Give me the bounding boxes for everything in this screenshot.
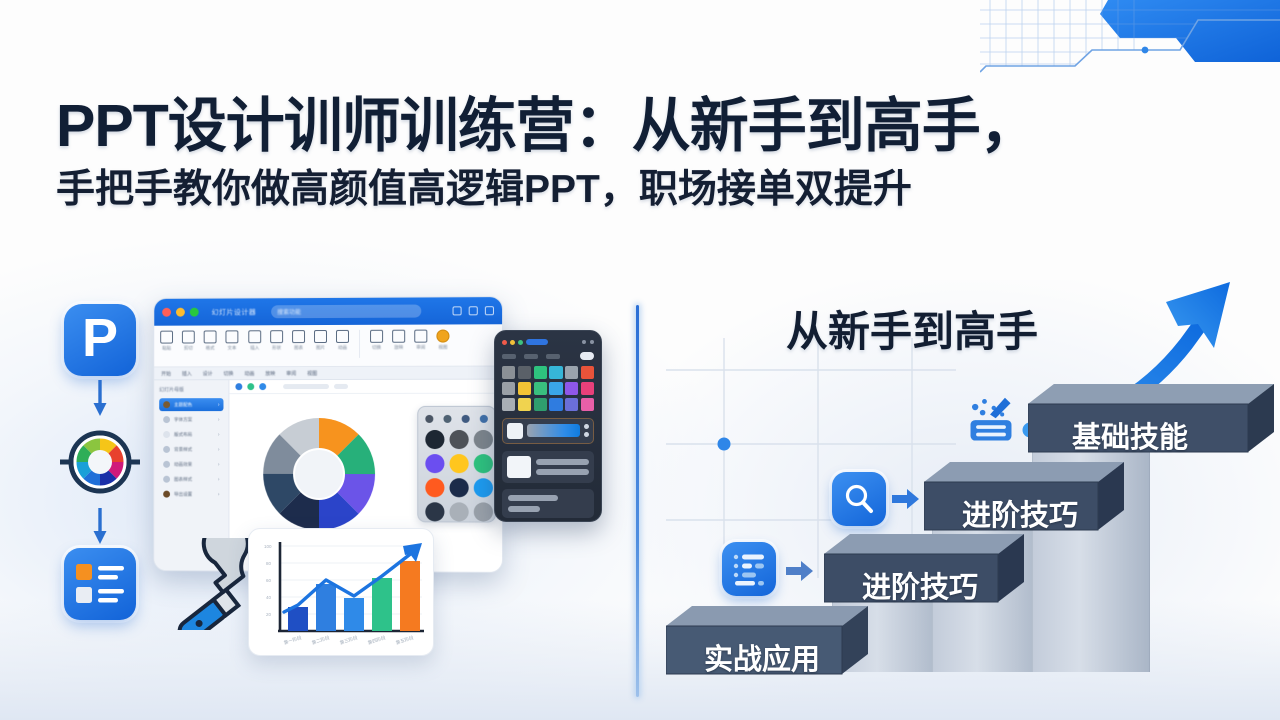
gradient-stop-dot[interactable] xyxy=(584,432,589,437)
preview-line xyxy=(536,459,589,465)
panel-tab[interactable] xyxy=(502,354,516,359)
chevron-right-icon: › xyxy=(218,446,220,452)
bullet-icon xyxy=(163,476,170,483)
chevron-right-icon: › xyxy=(218,432,220,438)
footer-line xyxy=(508,495,558,501)
app-tab-strip: 开始 插入 设计 切换 动画 放映 审阅 视图 xyxy=(154,367,502,381)
window-close-dot[interactable] xyxy=(162,308,171,317)
palette-cell[interactable] xyxy=(565,382,578,395)
page-subtitle: 手把手教你做高颜值高逻辑PPT，职场接单双提升 xyxy=(56,169,1236,212)
ribbon-button[interactable]: 粘贴 xyxy=(160,331,173,352)
arrow-down-icon xyxy=(52,376,148,420)
poster-canvas: PPT设计训师训练营：从新手到高手， 手把手教你做高颜值高逻辑PPT，职场接单双… xyxy=(0,0,1280,720)
shape-icon xyxy=(270,330,283,343)
ribbon-label: 粘贴 xyxy=(160,346,173,352)
palette-cell[interactable] xyxy=(502,398,515,411)
tab-design[interactable]: 设计 xyxy=(203,370,213,377)
list-form-icon[interactable] xyxy=(722,542,776,596)
palette-cell[interactable] xyxy=(565,366,578,379)
palette-cell[interactable] xyxy=(549,366,562,379)
palette-cell[interactable] xyxy=(581,382,594,395)
palette-cell[interactable] xyxy=(581,366,594,379)
tab-transition[interactable]: 切换 xyxy=(224,370,234,377)
ribbon-button[interactable]: 审阅 xyxy=(414,330,427,351)
swatch-cell[interactable] xyxy=(450,502,469,521)
swatch-cell[interactable] xyxy=(450,430,469,449)
footer-line xyxy=(508,506,540,512)
app-window-title: 幻灯片设计器 xyxy=(212,307,257,317)
ribbon-button[interactable]: 视图 xyxy=(436,330,449,351)
swatch-cell[interactable] xyxy=(450,454,469,473)
bullet-icon xyxy=(163,491,170,498)
dark-panel-tabs xyxy=(502,352,594,360)
arrow-down-icon xyxy=(52,504,148,548)
chevron-right-icon: › xyxy=(218,417,220,423)
ribbon-button[interactable]: 格式 xyxy=(204,330,217,351)
chart-xtick-labels: 第一阶段 第二阶段 第三阶段 第四阶段 第五阶段 xyxy=(283,634,415,646)
ribbon-group-left: 粘贴 剪切 格式 文本 xyxy=(160,330,238,351)
bullet-icon xyxy=(163,461,170,468)
sidebar-item-animation[interactable]: 动画效果 › xyxy=(159,458,223,471)
cut-icon xyxy=(182,331,195,344)
chart-ytick-labels: 1008060 4020 xyxy=(264,544,272,617)
ribbon-button[interactable]: 文本 xyxy=(225,330,238,351)
staircase-diagram: 基础技能 xyxy=(636,280,1280,720)
panel-actions xyxy=(582,340,594,344)
dark-tool-panel xyxy=(494,330,602,522)
ribbon-button[interactable]: 动画 xyxy=(336,330,349,351)
paste-icon xyxy=(160,331,173,344)
panel-min-dot[interactable] xyxy=(510,340,515,345)
preview-thumbnail xyxy=(507,456,531,478)
ribbon-label: 插入 xyxy=(248,345,261,351)
app-titlebar: 幻灯片设计器 搜索功能 xyxy=(154,297,502,326)
palette-cell[interactable] xyxy=(502,382,515,395)
sidebar-item-label: 图表样式 xyxy=(174,476,214,482)
tab-insert[interactable]: 插入 xyxy=(182,370,192,377)
swatch-grid xyxy=(425,430,488,522)
palette-cell[interactable] xyxy=(549,382,562,395)
palette-cell[interactable] xyxy=(534,398,547,411)
sidebar-item-layout[interactable]: 版式布局 › xyxy=(159,428,223,441)
sidebar-item-fonts[interactable]: 字体方案 › xyxy=(159,413,223,426)
preview-line xyxy=(536,469,589,475)
swatch-cell[interactable] xyxy=(474,478,493,497)
sidebar-item-label: 背景样式 xyxy=(174,446,214,452)
ribbon-label: 视图 xyxy=(436,345,449,351)
ribbon-button[interactable]: 图表 xyxy=(292,330,305,351)
ribbon-label: 审阅 xyxy=(414,345,427,351)
panel-action-dot[interactable] xyxy=(590,340,594,344)
search-input[interactable]: 搜索功能 xyxy=(271,305,421,319)
swatch-dot[interactable] xyxy=(425,415,433,423)
cloud-icon[interactable] xyxy=(485,306,494,315)
dark-panel-color-grid xyxy=(502,366,594,411)
dark-panel-footer-block xyxy=(502,489,594,518)
svg-text:第四阶段: 第四阶段 xyxy=(367,634,387,646)
palette-cell[interactable] xyxy=(565,398,578,411)
title-block: PPT设计训师训练营：从新手到高手， 手把手教你做高颜值高逻辑PPT，职场接单双… xyxy=(56,96,1236,212)
chevron-right-icon: › xyxy=(218,461,220,467)
step-3-arrow-icon xyxy=(892,488,918,510)
format-icon xyxy=(204,330,217,343)
svg-text:第五阶段: 第五阶段 xyxy=(395,634,415,646)
svg-text:40: 40 xyxy=(266,595,272,600)
step-2: 进阶技巧 xyxy=(824,534,1024,606)
svg-text:80: 80 xyxy=(266,561,272,566)
step-3-label: 进阶技巧 xyxy=(962,492,1078,534)
gradient-stop-dot[interactable] xyxy=(584,424,589,429)
insert-icon xyxy=(248,330,261,343)
swatch-cell[interactable] xyxy=(425,502,444,521)
view-icon xyxy=(436,330,449,343)
ribbon-separator xyxy=(359,330,360,358)
bar-chart: 1008060 4020 xyxy=(258,538,426,651)
tab-animation[interactable]: 动画 xyxy=(244,370,254,377)
bullet-icon xyxy=(163,446,170,453)
gradient-slider[interactable] xyxy=(527,424,580,437)
search-placeholder: 搜索功能 xyxy=(277,307,301,316)
slide-layout-icon[interactable] xyxy=(64,548,136,620)
swatch-cell[interactable] xyxy=(425,430,444,449)
ribbon-label: 切换 xyxy=(370,345,383,351)
tab-view[interactable]: 视图 xyxy=(307,370,317,377)
panel-max-dot[interactable] xyxy=(518,340,523,345)
powerpoint-letter: P xyxy=(82,311,118,365)
bullet-icon xyxy=(163,401,170,408)
svg-text:第一阶段: 第一阶段 xyxy=(283,634,303,646)
animation-icon xyxy=(336,330,349,343)
ribbon-label: 形状 xyxy=(270,345,283,351)
svg-text:100: 100 xyxy=(264,544,272,549)
review-icon xyxy=(414,330,427,343)
sidebar-header: 幻灯片母版 xyxy=(159,386,223,393)
powerpoint-icon[interactable]: P xyxy=(64,304,136,376)
picture-icon xyxy=(314,330,327,343)
swatch-cell[interactable] xyxy=(425,478,444,497)
bullet-icon xyxy=(163,416,170,423)
panel-toggle[interactable] xyxy=(580,352,594,360)
slideshow-icon xyxy=(392,330,405,343)
chevron-right-icon: › xyxy=(218,402,220,408)
ribbon-label: 文本 xyxy=(225,345,238,351)
right-panel: 从新手到高手 xyxy=(636,280,1280,720)
sidebar-item-label: 版式布局 xyxy=(174,432,214,438)
step-1: 实战应用 xyxy=(666,606,868,678)
text-icon xyxy=(225,330,238,343)
canvas-tool-dot-cyan[interactable] xyxy=(259,383,266,390)
palette-cell[interactable] xyxy=(518,382,531,395)
sidebar-item-label: 主题配色 xyxy=(174,402,214,408)
palette-cell[interactable] xyxy=(502,366,515,379)
titlebar-actions xyxy=(453,306,494,315)
comment-icon[interactable] xyxy=(469,306,478,315)
window-maximize-dot[interactable] xyxy=(190,308,199,317)
transition-icon xyxy=(370,330,383,343)
sidebar-item-export[interactable]: 导出设置 › xyxy=(159,488,223,501)
canvas-field-small[interactable] xyxy=(334,384,348,389)
panel-action-dot[interactable] xyxy=(582,340,586,344)
preview-lines xyxy=(536,456,589,478)
ribbon-button[interactable]: 放映 xyxy=(392,330,405,351)
bar-chart-card: 1008060 4020 xyxy=(248,528,434,656)
ribbon-label: 图表 xyxy=(292,345,305,351)
step-4-label: 基础技能 xyxy=(1072,414,1188,456)
ribbon-label: 剪切 xyxy=(182,345,195,351)
ribbon-label: 格式 xyxy=(204,345,217,351)
step-2-arrow-icon xyxy=(786,560,812,582)
panel-tab[interactable] xyxy=(546,354,560,359)
dark-panel-preview-row xyxy=(502,451,594,483)
left-panel: P xyxy=(0,280,636,720)
panel-title-pill xyxy=(526,339,548,345)
palette-cell[interactable] xyxy=(518,398,531,411)
chevron-right-icon: › xyxy=(218,491,220,497)
ribbon-label: 动画 xyxy=(336,345,349,351)
page-title: PPT设计训师训练营：从新手到高手， xyxy=(56,96,1236,157)
palette-cell[interactable] xyxy=(534,366,547,379)
swatch-cell[interactable] xyxy=(450,478,469,497)
ribbon-button[interactable]: 形状 xyxy=(270,330,283,351)
ribbon-group-right: 切换 放映 审阅 视图 xyxy=(370,330,449,351)
svg-text:20: 20 xyxy=(266,612,272,617)
ribbon-label: 放映 xyxy=(392,345,405,351)
workflow-icon-rail: P xyxy=(52,304,148,620)
palette-cell[interactable] xyxy=(549,398,562,411)
ribbon-button[interactable]: 切换 xyxy=(370,330,383,351)
ribbon-label: 图片 xyxy=(314,345,327,351)
swatch-cell[interactable] xyxy=(425,454,444,473)
chart-icon xyxy=(292,330,305,343)
edit-sparkle-icon[interactable] xyxy=(964,394,1018,448)
sidebar-item-label: 导出设置 xyxy=(174,491,214,497)
swatch-dot[interactable] xyxy=(443,415,451,423)
share-icon[interactable] xyxy=(453,306,462,315)
step-1-label: 实战应用 xyxy=(704,636,820,678)
swatch-cell[interactable] xyxy=(474,502,493,521)
ribbon-group-mid: 插入 形状 图表 图片 xyxy=(248,330,349,351)
tab-review[interactable]: 审阅 xyxy=(286,370,296,377)
canvas-field[interactable] xyxy=(283,384,329,389)
chevron-right-icon: › xyxy=(218,476,220,482)
gradient-editor-row[interactable] xyxy=(502,418,594,444)
canvas-toolbar xyxy=(229,380,502,395)
app-ribbon: 粘贴 剪切 格式 文本 xyxy=(154,324,502,367)
ribbon-button[interactable]: 图片 xyxy=(314,330,327,351)
bullet-icon xyxy=(163,431,170,438)
ribbon-button[interactable]: 插入 xyxy=(248,330,261,351)
swatch-dot[interactable] xyxy=(480,415,488,423)
palette-cell[interactable] xyxy=(518,366,531,379)
window-minimize-dot[interactable] xyxy=(176,308,185,317)
svg-text:第三阶段: 第三阶段 xyxy=(339,634,359,646)
corner-decoration xyxy=(980,0,1280,105)
svg-text:60: 60 xyxy=(266,578,272,583)
sidebar-item-background[interactable]: 背景样式 › xyxy=(159,443,223,456)
tab-slideshow[interactable]: 放映 xyxy=(265,370,275,377)
swatch-dot[interactable] xyxy=(462,415,470,423)
magnifier-icon[interactable] xyxy=(832,472,886,526)
sidebar-item-theme-colors[interactable]: 主题配色 › xyxy=(159,398,223,411)
sidebar-item-label: 字体方案 xyxy=(174,417,214,423)
svg-text:第二阶段: 第二阶段 xyxy=(311,634,331,646)
step-2-label: 进阶技巧 xyxy=(862,564,978,606)
palette-cell[interactable] xyxy=(534,382,547,395)
sidebar-item-chart-style[interactable]: 图表样式 › xyxy=(159,473,223,486)
step-3: 进阶技巧 xyxy=(924,462,1124,534)
palette-cell[interactable] xyxy=(581,398,594,411)
gradient-stops xyxy=(584,424,589,437)
canvas-tool-dot-green[interactable] xyxy=(247,383,254,390)
ribbon-button[interactable]: 剪切 xyxy=(182,331,195,352)
donut-chart xyxy=(257,412,381,536)
dark-panel-header xyxy=(502,339,594,345)
swatch-cell[interactable] xyxy=(474,430,493,449)
tab-start[interactable]: 开始 xyxy=(161,370,171,377)
color-swatch-panel xyxy=(417,406,496,523)
panel-tab[interactable] xyxy=(524,354,538,359)
color-wheel-icon[interactable] xyxy=(58,420,142,504)
mini-palette-icon[interactable] xyxy=(507,423,523,439)
sidebar-item-label: 动画效果 xyxy=(174,461,214,467)
swatch-top-row xyxy=(425,415,488,423)
swatch-cell[interactable] xyxy=(474,454,493,473)
panel-close-dot[interactable] xyxy=(502,340,507,345)
step-4: 基础技能 xyxy=(1028,384,1274,456)
canvas-tool-dot-blue[interactable] xyxy=(235,383,242,390)
